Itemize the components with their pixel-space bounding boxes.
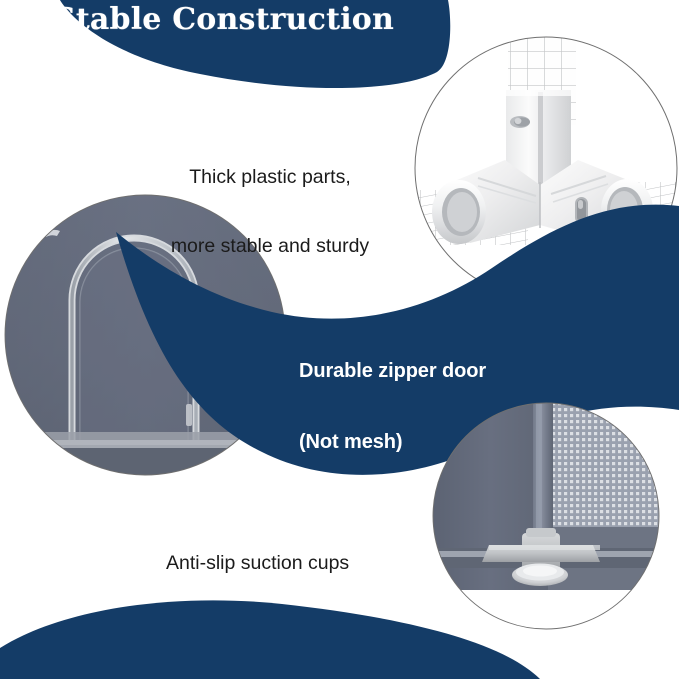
infographic-page: Stable Construction Thick plastic parts,… — [0, 0, 679, 679]
feature-thick-plastic-parts-label: Thick plastic parts, more stable and stu… — [142, 120, 398, 304]
page-title: Stable Construction — [0, 2, 448, 37]
feature-1-line-2: more stable and sturdy — [142, 235, 398, 258]
feature-3-line-1: Anti-slip suction cups — [166, 552, 349, 575]
feature-1-line-1: Thick plastic parts, — [142, 166, 398, 189]
feature-2-line-1: Durable zipper door — [299, 360, 486, 384]
feature-durable-zipper-door-label: Durable zipper door (Not mesh) — [299, 313, 486, 502]
feature-anti-slip-suction-cups-label: Anti-slip suction cups — [166, 506, 349, 621]
feature-2-line-2: (Not mesh) — [299, 431, 486, 455]
